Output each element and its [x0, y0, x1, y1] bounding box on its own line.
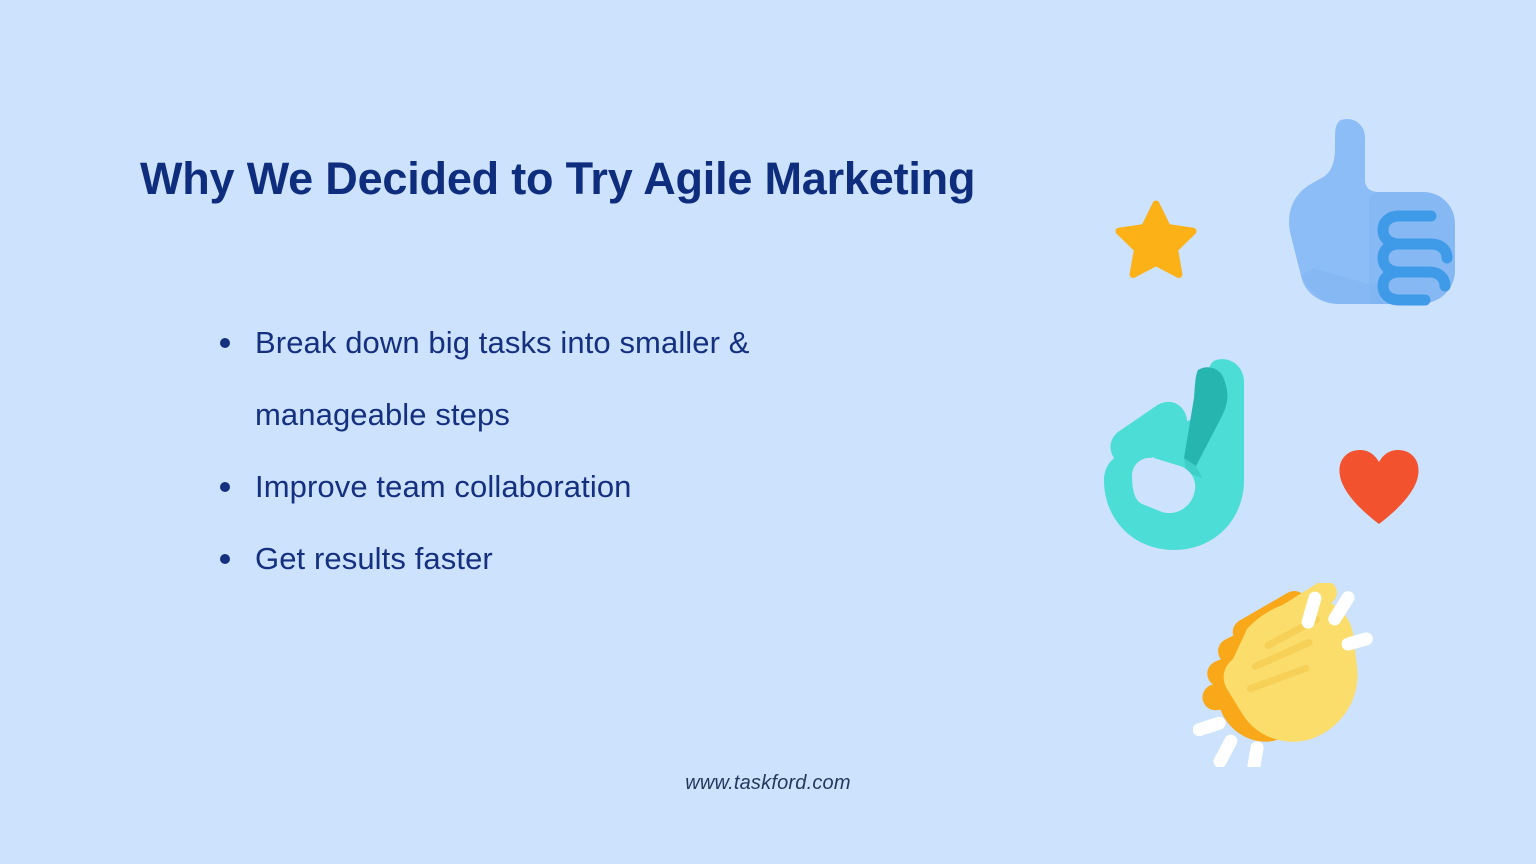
bullet-point-icon	[220, 338, 230, 348]
benefits-bullet-list: Break down big tasks into smaller & mana…	[180, 307, 920, 595]
clapping-hands-icon	[1193, 583, 1373, 767]
page-title: Why We Decided to Try Agile Marketing	[140, 152, 1100, 205]
text-content-block: Why We Decided to Try Agile Marketing Br…	[140, 152, 1100, 205]
list-item-label: Improve team collaboration	[255, 451, 920, 523]
footer-website-url: www.taskford.com	[0, 772, 1536, 795]
list-item-label: Break down big tasks into smaller & mana…	[255, 307, 920, 451]
ok-hand-icon	[1098, 354, 1258, 554]
bullet-point-icon	[220, 554, 230, 564]
bullet-point-icon	[220, 482, 230, 492]
slide-canvas: Why We Decided to Try Agile Marketing Br…	[0, 0, 1536, 864]
list-item-label: Get results faster	[255, 523, 920, 595]
star-icon	[1112, 196, 1200, 280]
thumbs-up-icon	[1283, 118, 1463, 316]
list-item: Improve team collaboration	[180, 451, 920, 523]
list-item: Break down big tasks into smaller & mana…	[180, 307, 920, 451]
list-item: Get results faster	[180, 523, 920, 595]
heart-icon	[1336, 448, 1422, 528]
